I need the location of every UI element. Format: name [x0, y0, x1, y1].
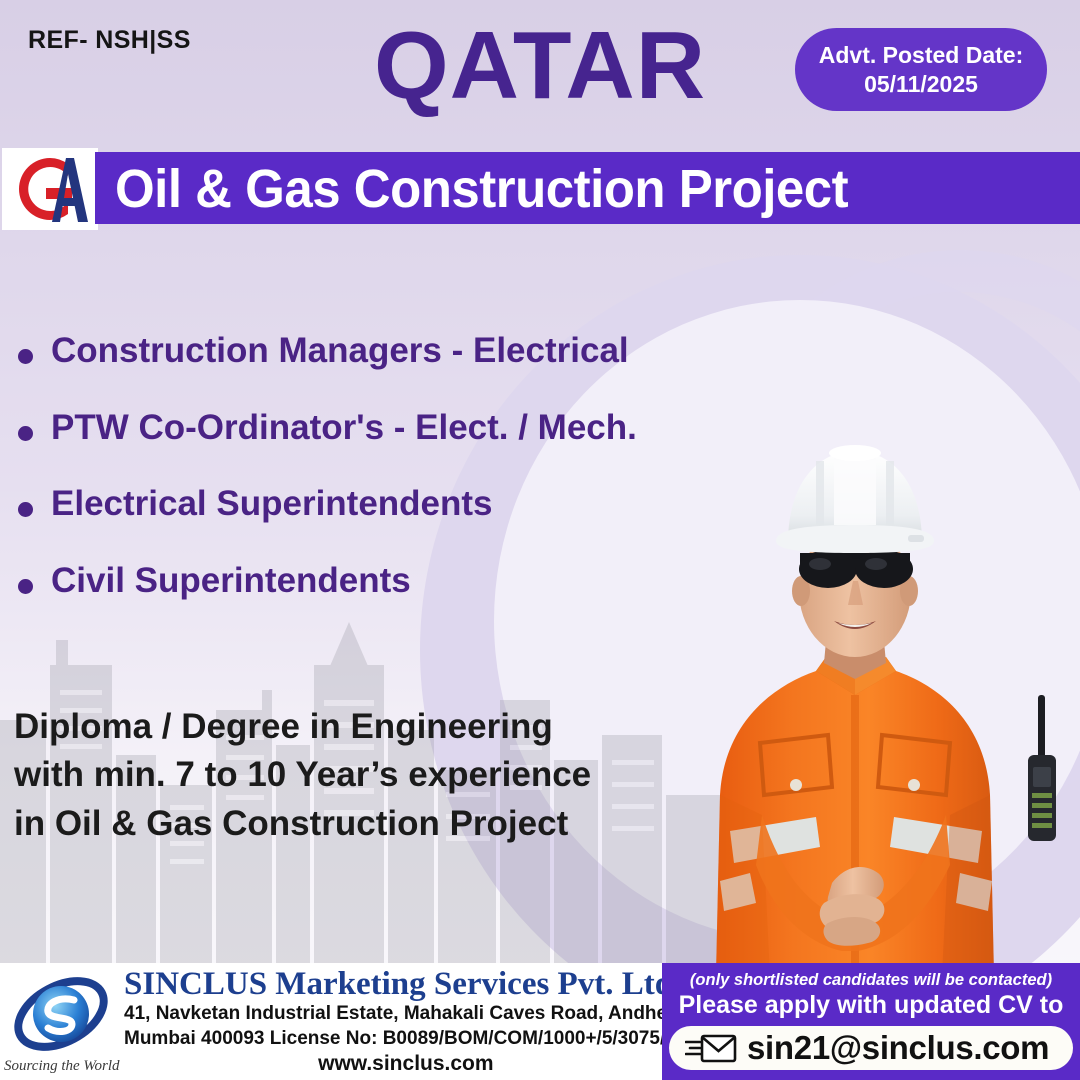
sinclus-globe-logo: Sourcing the World... — [2, 966, 120, 1078]
company-name: SINCLUS Marketing Services Pvt. Ltd. — [124, 967, 716, 1002]
posted-date-value: 05/11/2025 — [864, 70, 978, 98]
list-item: Construction Managers - Electrical — [18, 330, 798, 373]
qualification-line-1: Diploma / Degree in Engineering — [14, 703, 694, 751]
bullet-icon — [18, 349, 33, 364]
posted-date-badge: Advt. Posted Date: 05/11/2025 — [795, 28, 1047, 111]
company-address-line-2: Mumbai 400093 License No: B0089/BOM/COM/… — [124, 1027, 716, 1052]
shortlist-note: (only shortlisted candidates will be con… — [690, 971, 1052, 990]
job-title: Construction Managers - Electrical — [51, 330, 629, 373]
job-title: Electrical Superintendents — [51, 483, 493, 526]
bullet-icon — [18, 502, 33, 517]
company-info-panel: Sourcing the World... SINCLUS Marketing … — [0, 963, 662, 1080]
company-address-line-1: 41, Navketan Industrial Estate, Mahakali… — [124, 1002, 716, 1027]
banner-title: Oil & Gas Construction Project — [95, 157, 848, 220]
qualification-line-3: in Oil & Gas Construction Project — [14, 800, 694, 848]
posted-date-label: Advt. Posted Date: — [819, 41, 1023, 69]
contact-email[interactable]: sin21@sinclus.com — [747, 1029, 1049, 1067]
envelope-send-icon — [685, 1031, 737, 1065]
apply-instructions-panel: (only shortlisted candidates will be con… — [662, 963, 1080, 1080]
job-title: Civil Superintendents — [51, 560, 411, 603]
job-advertisement-poster: REF- NSH|SS QATAR Advt. Posted Date: 05/… — [0, 0, 1080, 1080]
project-title-banner: Oil & Gas Construction Project — [95, 152, 1080, 224]
bullet-icon — [18, 579, 33, 594]
email-contact-pill[interactable]: sin21@sinclus.com — [669, 1026, 1073, 1070]
bullet-icon — [18, 426, 33, 441]
oil-and-gas-worker-photo — [620, 395, 1080, 975]
company-tagline: Sourcing the World... — [4, 1058, 120, 1074]
job-title: PTW Co-Ordinator's - Elect. / Mech. — [51, 407, 637, 450]
ca-monogram-logo — [2, 148, 98, 230]
qualification-line-2: with min. 7 to 10 Year’s experience — [14, 751, 694, 799]
qualification-requirements: Diploma / Degree in Engineering with min… — [14, 703, 694, 848]
apply-instruction-text: Please apply with updated CV to — [679, 991, 1064, 1020]
company-website[interactable]: www.sinclus.com — [124, 1052, 716, 1076]
